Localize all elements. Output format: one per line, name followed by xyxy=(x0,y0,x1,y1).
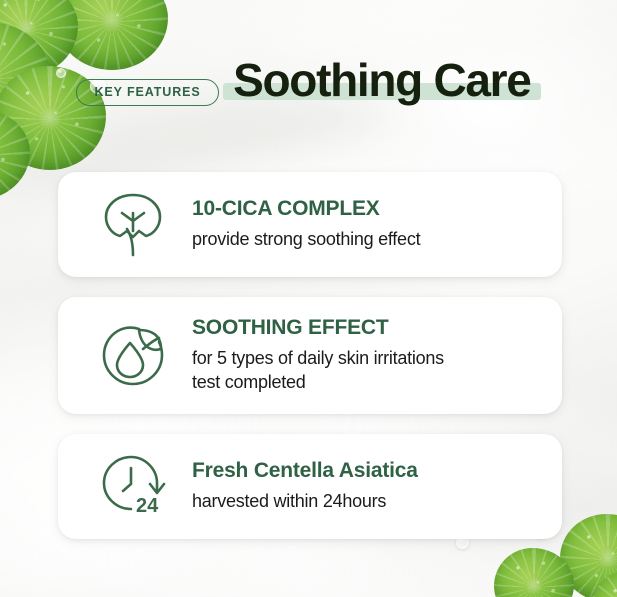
description-line-1: for 5 types of daily skin irritations xyxy=(192,347,542,371)
feature-card-list: 10-CICA COMPLEX provide strong soothing … xyxy=(58,172,562,539)
feature-card-description: provide strong soothing effect xyxy=(192,228,542,252)
page-title-wrapper: Soothing Care xyxy=(223,56,540,106)
description-line-1: provide strong soothing effect xyxy=(192,229,420,249)
feature-card-description: harvested within 24hours xyxy=(192,490,542,514)
header: KEY FEATURES Soothing Care xyxy=(0,0,617,106)
feature-card-fresh-centella[interactable]: 24 Fresh Centella Asiatica harvested wit… xyxy=(58,434,562,539)
feature-card-text: 10-CICA COMPLEX provide strong soothing … xyxy=(188,197,542,252)
feature-card-text: Fresh Centella Asiatica harvested within… xyxy=(188,459,542,514)
feature-card-cica-complex[interactable]: 10-CICA COMPLEX provide strong soothing … xyxy=(58,172,562,277)
feature-card-text: SOOTHING EFFECT for 5 types of daily ski… xyxy=(188,316,542,395)
page-title: Soothing Care xyxy=(233,56,530,106)
description-line-2: test completed xyxy=(192,371,542,395)
feature-card-title: 10-CICA COMPLEX xyxy=(192,197,542,221)
description-line-1: harvested within 24hours xyxy=(192,491,386,511)
feature-card-soothing-effect[interactable]: SOOTHING EFFECT for 5 types of daily ski… xyxy=(58,297,562,414)
svg-text:24: 24 xyxy=(136,495,159,517)
clock-24-icon: 24 xyxy=(78,453,188,521)
feature-card-description: for 5 types of daily skin irritations te… xyxy=(192,347,542,395)
key-features-badge: KEY FEATURES xyxy=(76,79,218,106)
tree-icon xyxy=(78,191,188,259)
feature-card-title: Fresh Centella Asiatica xyxy=(192,459,542,483)
feature-card-title: SOOTHING EFFECT xyxy=(192,316,542,340)
droplet-leaf-icon xyxy=(78,322,188,390)
